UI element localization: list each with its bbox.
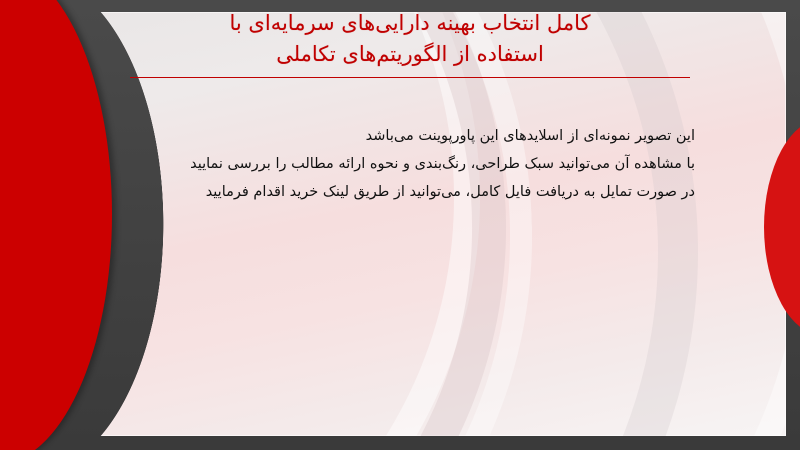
background-arc-pattern xyxy=(58,12,786,436)
presentation-slide: کامل انتخاب بهینه دارایی‌های سرمایه‌ای ب… xyxy=(0,0,800,450)
body-text-line-1: این تصویر نمونه‌ای از اسلایدهای این پاور… xyxy=(110,122,695,150)
body-text-line-2: با مشاهده آن می‌توانید سبک طراحی، رنگ‌بن… xyxy=(110,150,695,178)
body-text-line-3: در صورت تمایل به دریافت فایل کامل، می‌تو… xyxy=(110,178,695,206)
slide-content-panel xyxy=(58,12,786,436)
title-underline-rule xyxy=(130,77,690,78)
slide-title-line-1: کامل انتخاب بهینه دارایی‌های سرمایه‌ای ب… xyxy=(120,8,700,39)
slide-body-text: این تصویر نمونه‌ای از اسلایدهای این پاور… xyxy=(110,122,695,206)
slide-title: کامل انتخاب بهینه دارایی‌های سرمایه‌ای ب… xyxy=(120,8,700,70)
slide-title-line-2: استفاده از الگوریتم‌های تکاملی xyxy=(120,39,700,70)
arc-band-8 xyxy=(218,12,786,436)
